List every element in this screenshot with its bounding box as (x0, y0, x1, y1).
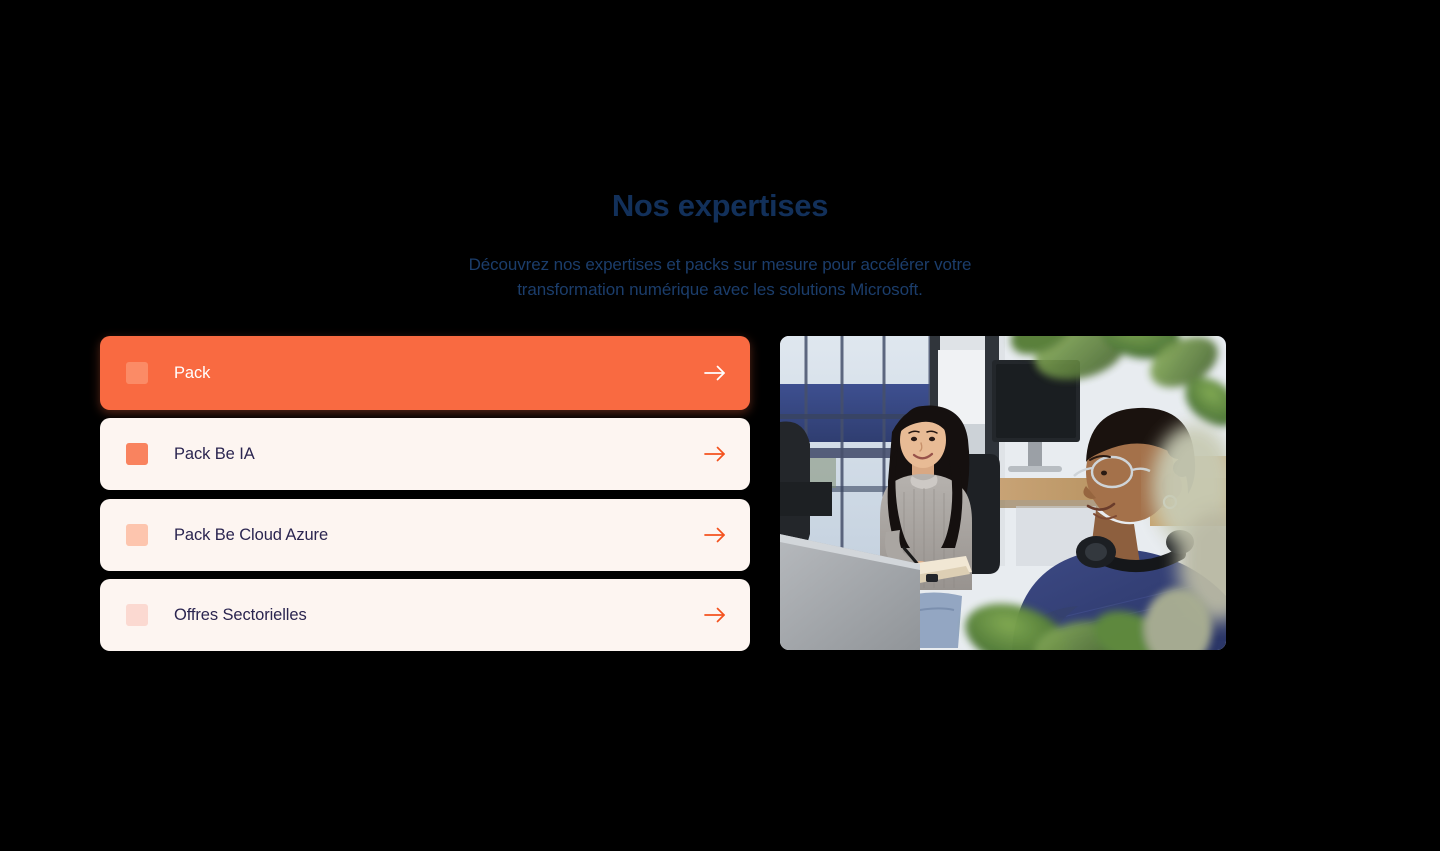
page-subtitle-line-2: transformation numérique avec les soluti… (0, 277, 1440, 302)
office-collaboration-illustration (780, 336, 1226, 650)
square-swatch-icon (126, 443, 148, 465)
expertise-item-pack-be-ia[interactable]: Pack Be IA (100, 418, 750, 490)
expertise-item-label: Pack Be IA (174, 443, 704, 465)
section-heading: Nos expertises Découvrez nos expertises … (0, 186, 1440, 302)
arrow-right-icon[interactable] (704, 364, 726, 382)
arrow-right-icon[interactable] (704, 606, 726, 624)
expertise-item-label: Pack (174, 362, 704, 384)
expertise-item-pack-be-cloud-azure[interactable]: Pack Be Cloud Azure (100, 499, 750, 571)
arrow-right-icon[interactable] (704, 526, 726, 544)
expertise-item-label: Pack Be Cloud Azure (174, 524, 704, 546)
page-subtitle-line-1: Découvrez nos expertises et packs sur me… (0, 252, 1440, 277)
expertise-content: Pack Pack Be IA (100, 336, 1340, 651)
square-swatch-icon (126, 604, 148, 626)
expertise-section: Nos expertises Découvrez nos expertises … (0, 0, 1440, 851)
expertise-item-pack[interactable]: Pack (100, 336, 750, 410)
expertise-photo (780, 336, 1226, 650)
page-subtitle: Découvrez nos expertises et packs sur me… (0, 252, 1440, 302)
expertise-list: Pack Pack Be IA (100, 336, 750, 651)
expertise-item-offres-sectorielles[interactable]: Offres Sectorielles (100, 579, 750, 651)
page-title: Nos expertises (0, 186, 1440, 226)
expertise-item-label: Offres Sectorielles (174, 604, 704, 626)
arrow-right-icon[interactable] (704, 445, 726, 463)
square-swatch-icon (126, 524, 148, 546)
square-swatch-icon (126, 362, 148, 384)
